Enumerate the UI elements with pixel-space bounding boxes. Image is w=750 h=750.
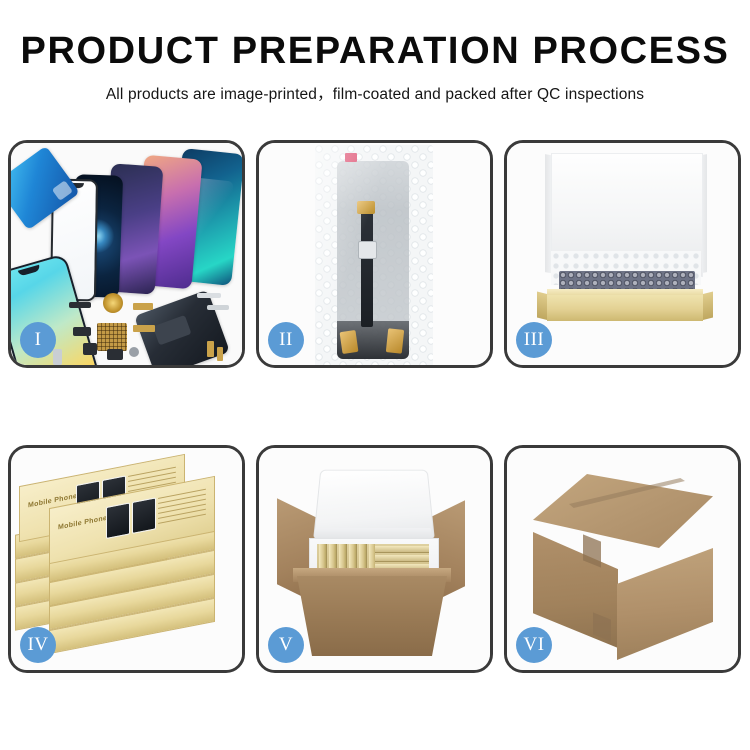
- process-step-panel-3: III: [504, 140, 741, 368]
- bag-gloss-overlay: [315, 145, 433, 365]
- bubble-wrap-bag: [315, 145, 433, 365]
- carton-body: [297, 576, 447, 656]
- page-title: PRODUCT PREPARATION PROCESS: [0, 32, 750, 72]
- page-header: PRODUCT PREPARATION PROCESS All products…: [0, 0, 750, 104]
- part-connector-grid: [97, 323, 127, 351]
- part-speaker: [107, 349, 123, 360]
- process-step-grid: I II: [8, 140, 742, 673]
- part-screw-b: [217, 347, 223, 361]
- step-badge-5: V: [268, 627, 304, 663]
- retail-box-spec-lines-front: [158, 489, 206, 530]
- step-badge-2: II: [268, 322, 304, 358]
- kraft-tray-front: [547, 295, 703, 321]
- process-step-panel-6: VI: [504, 445, 741, 673]
- part-gold-flex-2: [133, 325, 155, 332]
- carton-right-face: [617, 548, 713, 660]
- process-step-panel-4: Mobile Phone Spare Parts Mobile Phone Sp…: [8, 445, 245, 673]
- retail-box-screen-art-c: [106, 502, 130, 539]
- carton-top-face: [533, 474, 713, 548]
- part-camera: [83, 343, 97, 355]
- step-badge-1: I: [20, 322, 56, 358]
- page-subtitle: All products are image-printed，film-coat…: [0, 82, 750, 104]
- part-small-module: [73, 327, 91, 336]
- process-step-panel-1: I: [8, 140, 245, 368]
- process-step-panel-5: V: [256, 445, 493, 673]
- part-sim-tray: [53, 349, 62, 365]
- step-badge-6: VI: [516, 627, 552, 663]
- step-badge-4: IV: [20, 627, 56, 663]
- part-tool: [197, 293, 221, 298]
- part-bracket: [69, 302, 91, 308]
- retail-box-screen-art-d: [132, 497, 156, 534]
- part-tweezer: [207, 305, 229, 310]
- part-screw-a: [207, 341, 214, 357]
- part-coil: [103, 293, 123, 313]
- part-gold-flex: [133, 303, 153, 310]
- step-badge-3: III: [516, 322, 552, 358]
- process-step-panel-2: II: [256, 140, 493, 368]
- retail-box-stack: Mobile Phone Spare Parts Mobile Phone Sp…: [15, 468, 240, 658]
- part-button: [129, 347, 139, 357]
